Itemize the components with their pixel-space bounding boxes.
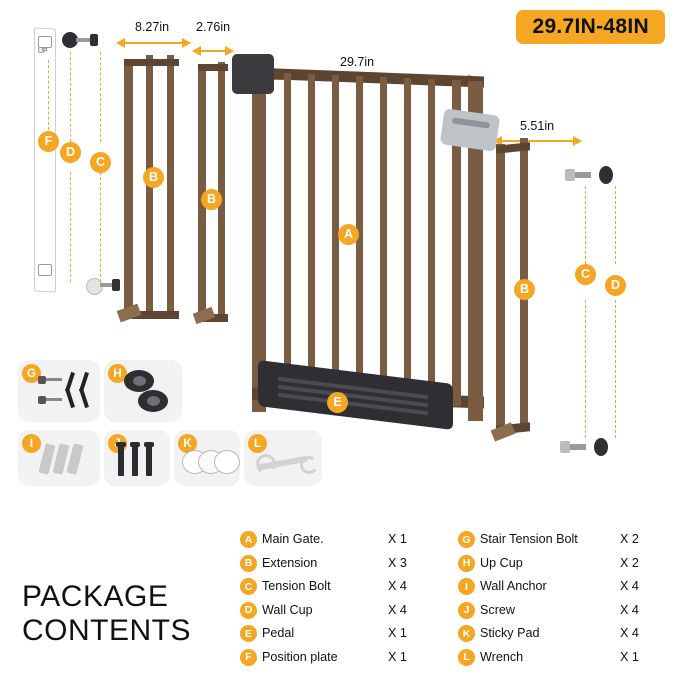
legend-badge: J [458,602,475,619]
legend-badge: A [240,531,257,548]
page-title-line2: CONTENTS [22,614,191,648]
legend-qty: X 4 [620,579,639,593]
callout-b-right: B [514,279,535,300]
dimension-label-2-76in: 2.76in [196,20,230,34]
legend-item: A Main Gate. X 1 [240,530,440,554]
callout-d-right: D [605,275,626,296]
gate-handle [440,108,500,151]
legend-item: I Wall Anchor X 4 [458,577,668,601]
callout-e: E [327,392,348,413]
legend-label: Stair Tension Bolt [480,532,578,546]
legend-item: H Up Cup X 2 [458,554,668,578]
legend-qty: X 2 [620,556,639,570]
legend-item: J Screw X 4 [458,601,668,625]
page-title-line1: PACKAGE [22,580,191,614]
gate-latch-left [232,54,274,94]
legend-badge: H [458,555,475,572]
parts-label-l: L [248,434,267,453]
legend-qty: X 1 [388,650,407,664]
pedal-graphic [258,372,458,434]
legend-label: Pedal [262,626,294,640]
dimension-label-5-51in: 5.51in [520,119,554,133]
leader-line-c-right-lower [585,300,586,438]
callout-d-left: D [60,142,81,163]
legend-qty: X 4 [620,603,639,617]
legend-label: Wrench [480,650,523,664]
callout-a: A [338,224,359,245]
position-plate-up-text-top: UP [38,48,48,55]
legend-badge: D [240,602,257,619]
callout-c-right: C [575,264,596,285]
legend-item: E Pedal X 1 [240,624,440,648]
legend-qty: X 2 [620,532,639,546]
legend-badge: K [458,625,475,642]
legend-item: L Wrench X 1 [458,648,668,672]
legend-qty: X 4 [388,579,407,593]
legend-badge: F [240,649,257,666]
page-title: PACKAGE CONTENTS [22,580,191,648]
parts-label-i: I [22,434,41,453]
callout-f: F [38,131,59,152]
legend-label: Wall Anchor [480,579,547,593]
callout-c-left: C [90,152,111,173]
legend-label: Up Cup [480,556,523,570]
legend-qty: X 1 [388,626,407,640]
legend-label: Sticky Pad [480,626,540,640]
legend-item: K Sticky Pad X 4 [458,624,668,648]
legend-label: Extension [262,556,317,570]
leader-line-c-left [100,52,101,142]
callout-b-left-2: B [201,189,222,210]
legend-qty: X 1 [620,650,639,664]
leader-line-d-right [615,186,616,264]
legend-label: Position plate [262,650,338,664]
leader-line-c-left-lower [100,172,101,282]
leader-line-d-left-lower [70,172,71,282]
legend-badge: B [240,555,257,572]
legend-item: F Position plate X 1 [240,648,440,672]
legend-badge: E [240,625,257,642]
legend-qty: X 4 [620,626,639,640]
legend-label: Tension Bolt [262,579,331,593]
legend-badge: I [458,578,475,595]
leader-line-c-right [585,186,586,264]
legend-item: G Stair Tension Bolt X 2 [458,530,668,554]
legend-qty: X 4 [388,603,407,617]
callout-b-left-1: B [143,167,164,188]
leader-line-d-left [70,52,71,142]
leader-line-f [48,60,49,130]
size-range-badge: 29.7IN-48IN [516,10,665,44]
position-plate-graphic: UP [30,28,60,298]
dimension-label-8-27in: 8.27in [135,20,169,34]
legend-qty: X 3 [388,556,407,570]
legend-label: Screw [480,603,515,617]
legend-column-left: A Main Gate. X 1 B Extension X 3 C Tensi… [240,530,440,671]
legend-label: Main Gate. [262,532,324,546]
leader-line-d-right-lower [615,300,616,438]
legend-item: C Tension Bolt X 4 [240,577,440,601]
legend-item: B Extension X 3 [240,554,440,578]
legend-badge: C [240,578,257,595]
legend-column-right: G Stair Tension Bolt X 2 H Up Cup X 2 I … [458,530,668,671]
extension-panel-left-1 [124,55,182,325]
legend-badge: L [458,649,475,666]
legend-badge: G [458,531,475,548]
legend-label: Wall Cup [262,603,313,617]
legend-item: D Wall Cup X 4 [240,601,440,625]
legend-qty: X 1 [388,532,407,546]
